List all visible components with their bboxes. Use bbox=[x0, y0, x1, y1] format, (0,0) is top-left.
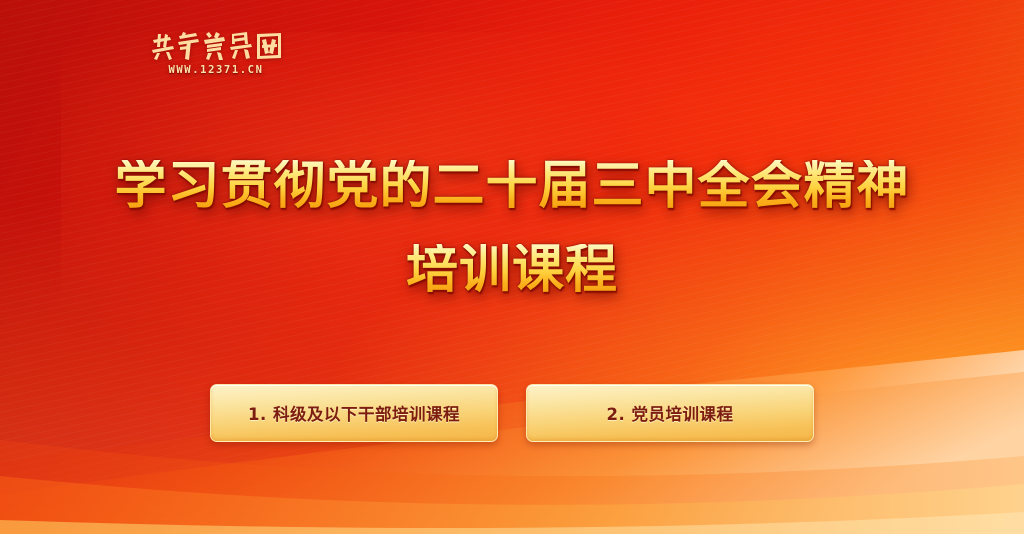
party-wordmark-calligraphy-icon bbox=[150, 31, 282, 61]
course-button-label: 1. 科级及以下干部培训课程 bbox=[248, 401, 460, 425]
course-button-party-member[interactable]: 2. 党员培训课程 bbox=[526, 384, 814, 442]
course-button-division-level-and-below[interactable]: 1. 科级及以下干部培训课程 bbox=[210, 384, 498, 442]
course-button-label: 2. 党员培训课程 bbox=[607, 401, 734, 425]
page-title: 学习贯彻党的二十届三中全会精神 培训课程 bbox=[0, 160, 1024, 296]
logo-url-text: WWW.12371.CN bbox=[150, 64, 282, 76]
page-title-line-2: 培训课程 bbox=[0, 244, 1024, 296]
course-button-row: 1. 科级及以下干部培训课程 2. 党员培训课程 bbox=[0, 384, 1024, 442]
site-logo[interactable]: WWW.12371.CN bbox=[150, 31, 282, 76]
page-title-line-1: 学习贯彻党的二十届三中全会精神 bbox=[0, 160, 1024, 212]
banner-stage: WWW.12371.CN 学习贯彻党的二十届三中全会精神 培训课程 1. 科级及… bbox=[0, 0, 1024, 534]
